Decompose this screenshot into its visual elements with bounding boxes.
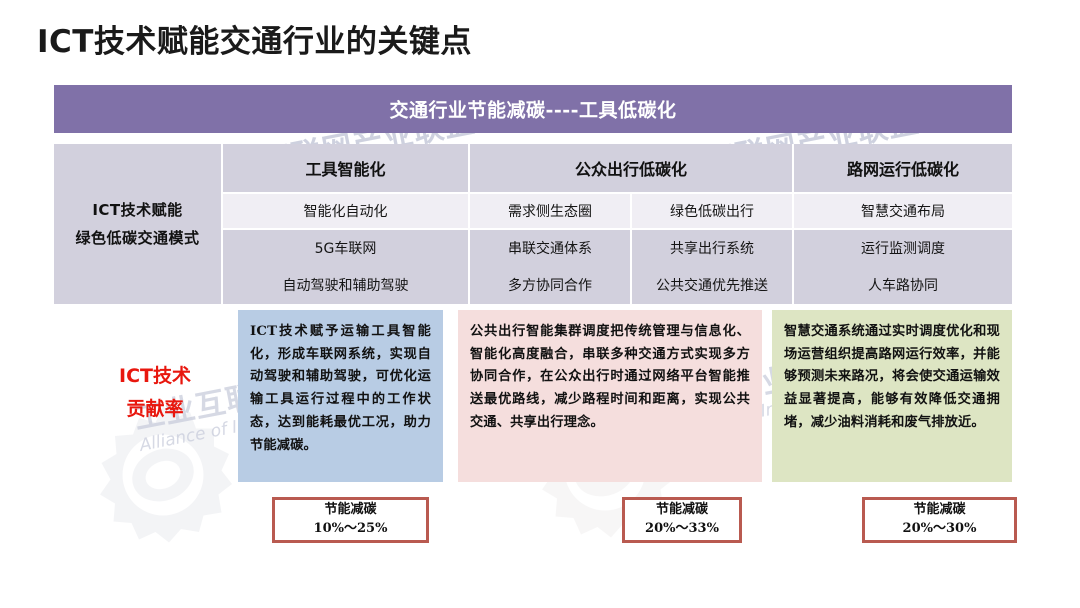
table-row-label-line1: ICT技术赋能 [92,196,182,225]
callout-label: 节能减碳 [656,501,708,520]
callout-savings-tool: 节能减碳 10%～25% [272,497,429,543]
slide-canvas: 工业互联网产业联盟 Alliance of Industrial Interne… [0,0,1080,608]
table-cell: 绿色低碳出行 [632,194,792,230]
callout-label: 节能减碳 [913,501,965,520]
table-group-body: 需求侧生态圈 串联交通体系 多方协同合作 绿色低碳出行 共享出行系统 公共交通优… [470,194,792,304]
description-box-public-travel: 公共出行智能集群调度把传统管理与信息化、智能化高度融合，串联多种交通方式实现多方… [458,310,762,482]
table-cell: 5G车联网 [223,230,468,266]
matrix-table: ICT技术赋能 绿色低碳交通模式 工具智能化 智能化自动化 5G车联网 自动驾驶… [54,144,1012,304]
table-cell: 多方协同合作 [470,266,630,304]
page-title: ICT技术赋能交通行业的关键点 [37,16,472,61]
contribution-label-line1: ICT技术 [80,360,230,393]
callout-savings-travel: 节能减碳 20%～33% [622,497,742,543]
table-subcolumn: 智慧交通布局 运行监测调度 人车路协同 [794,194,1012,304]
table-group-header: 路网运行低碳化 [794,144,1012,194]
callout-value: 20%～30% [903,520,977,539]
table-cell: 需求侧生态圈 [470,194,630,230]
table-cell: 智慧交通布局 [794,194,1012,230]
table-groups: 工具智能化 智能化自动化 5G车联网 自动驾驶和辅助驾驶 公众出行低碳化 需求侧… [223,144,1012,304]
callout-savings-road: 节能减碳 20%～30% [862,497,1017,543]
callout-value: 10%～25% [314,520,388,539]
table-group-road-network: 路网运行低碳化 智慧交通布局 运行监测调度 人车路协同 [792,144,1012,304]
table-cell: 共享出行系统 [632,230,792,266]
table-subcolumn: 智能化自动化 5G车联网 自动驾驶和辅助驾驶 [223,194,468,304]
table-row-label: ICT技术赋能 绿色低碳交通模式 [54,144,223,304]
table-subcolumn: 绿色低碳出行 共享出行系统 公共交通优先推送 [630,194,792,304]
section-banner-label: 交通行业节能减碳----工具低碳化 [54,96,1012,123]
table-subcolumn: 需求侧生态圈 串联交通体系 多方协同合作 [470,194,630,304]
table-cell: 运行监测调度 [794,230,1012,266]
table-row-label-line2: 绿色低碳交通模式 [75,224,199,253]
table-cell: 人车路协同 [794,266,1012,304]
table-group-header: 工具智能化 [223,144,468,194]
table-group-public-travel: 公众出行低碳化 需求侧生态圈 串联交通体系 多方协同合作 绿色低碳出行 共享出行… [468,144,792,304]
callout-label: 节能减碳 [324,501,376,520]
callout-value: 20%～33% [645,520,719,539]
table-cell: 公共交通优先推送 [632,266,792,304]
description-box-tool-intelligence: ICT技术赋予运输工具智能化，形成车联网系统，实现自动驾驶和辅助驾驶，可优化运输… [238,310,443,482]
contribution-label: ICT技术 贡献率 [80,360,230,427]
table-cell: 智能化自动化 [223,194,468,230]
section-banner: 交通行业节能减碳----工具低碳化 [54,85,1012,133]
table-cell: 串联交通体系 [470,230,630,266]
table-group-body: 智能化自动化 5G车联网 自动驾驶和辅助驾驶 [223,194,468,304]
table-group-header: 公众出行低碳化 [470,144,792,194]
table-group-tool-intelligence: 工具智能化 智能化自动化 5G车联网 自动驾驶和辅助驾驶 [223,144,468,304]
contribution-label-line2: 贡献率 [80,393,230,426]
description-box-road-network: 智慧交通系统通过实时调度优化和现场运营组织提高路网运行效率，并能够预测未来路况，… [772,310,1012,482]
table-cell: 自动驾驶和辅助驾驶 [223,266,468,304]
table-group-body: 智慧交通布局 运行监测调度 人车路协同 [794,194,1012,304]
